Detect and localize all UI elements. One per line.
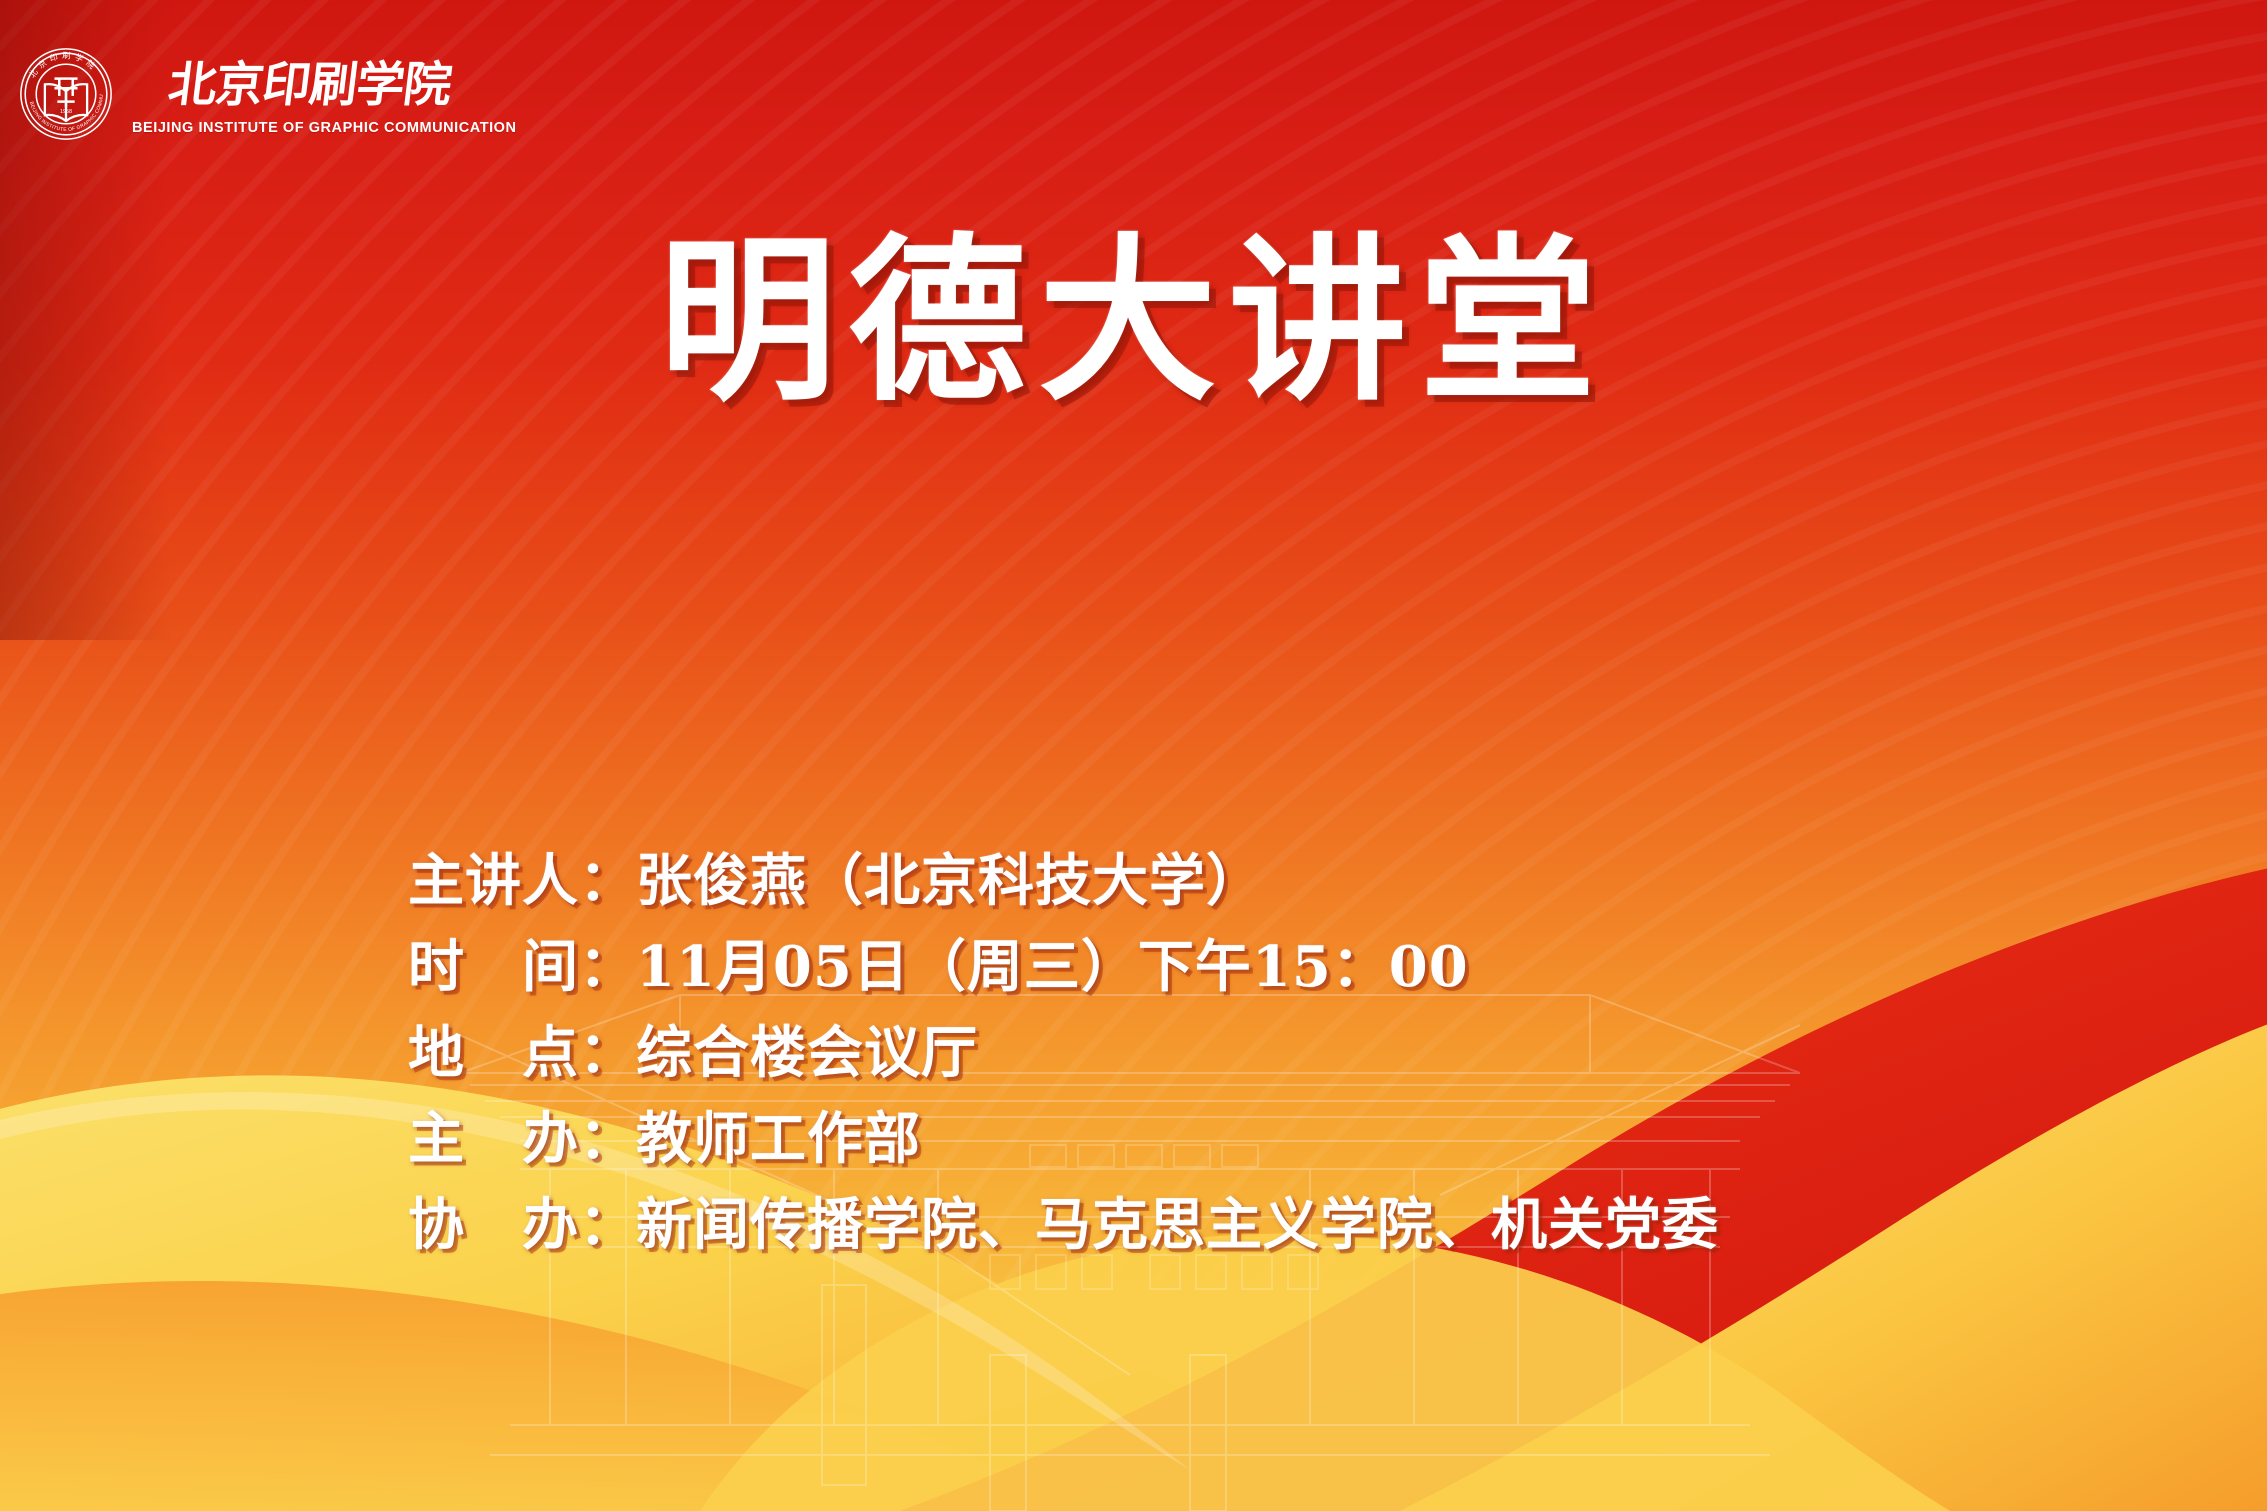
detail-separator: ： — [579, 1096, 636, 1182]
detail-value: 新闻传播学院、马克思主义学院、机关党委 — [636, 1192, 1719, 1258]
poster-canvas: 北京印刷学院 BEIJING INSTITUTE OF GRAPHIC COMM… — [0, 0, 2267, 1511]
detail-label: 时 间 — [408, 924, 579, 1010]
detail-value: 教师工作部 — [636, 1106, 921, 1172]
detail-label: 主 办 — [408, 1096, 579, 1182]
detail-row-coorganizer: 协 办：新闻传播学院、马克思主义学院、机关党委 — [408, 1182, 1719, 1268]
detail-value: 张俊燕（北京科技大学） — [636, 848, 1263, 914]
institution-name-cn: 北京印刷学院 — [128, 56, 517, 114]
detail-row-speaker: 主讲人：张俊燕（北京科技大学） — [408, 838, 1719, 924]
detail-label: 主讲人 — [408, 838, 579, 924]
institution-logo: 北京印刷学院 BEIJING INSTITUTE OF GRAPHIC COMM… — [18, 46, 517, 142]
detail-row-location: 地 点：综合楼会议厅 — [408, 1010, 1719, 1096]
svg-text:1958: 1958 — [60, 109, 72, 115]
svg-text:北京印刷学院: 北京印刷学院 — [165, 57, 455, 113]
university-emblem-icon: 北京印刷学院 BEIJING INSTITUTE OF GRAPHIC COMM… — [18, 46, 114, 142]
detail-value: 综合楼会议厅 — [636, 1020, 978, 1086]
event-details: 主讲人：张俊燕（北京科技大学） 时 间：11月05日（周三）下午15：00 地 … — [408, 838, 1719, 1268]
detail-row-organizer: 主 办：教师工作部 — [408, 1096, 1719, 1182]
detail-separator: ： — [579, 838, 636, 924]
detail-label: 地 点 — [408, 1010, 579, 1096]
detail-row-time: 时 间：11月05日（周三）下午15：00 — [408, 924, 1719, 1010]
detail-separator: ： — [579, 1182, 636, 1268]
poster-title: 明德大讲堂 — [0, 232, 2267, 410]
detail-label: 协 办 — [408, 1182, 579, 1268]
ribbon-orange-left — [0, 1281, 1180, 1511]
institution-name-en: BEIJING INSTITUTE OF GRAPHIC COMMUNICATI… — [132, 120, 517, 136]
detail-separator: ： — [579, 924, 636, 1010]
ribbon-yellow-center — [700, 1234, 1950, 1511]
detail-separator: ： — [579, 1010, 636, 1096]
detail-value: 11月05日（周三）下午15：00 — [636, 934, 1469, 1000]
